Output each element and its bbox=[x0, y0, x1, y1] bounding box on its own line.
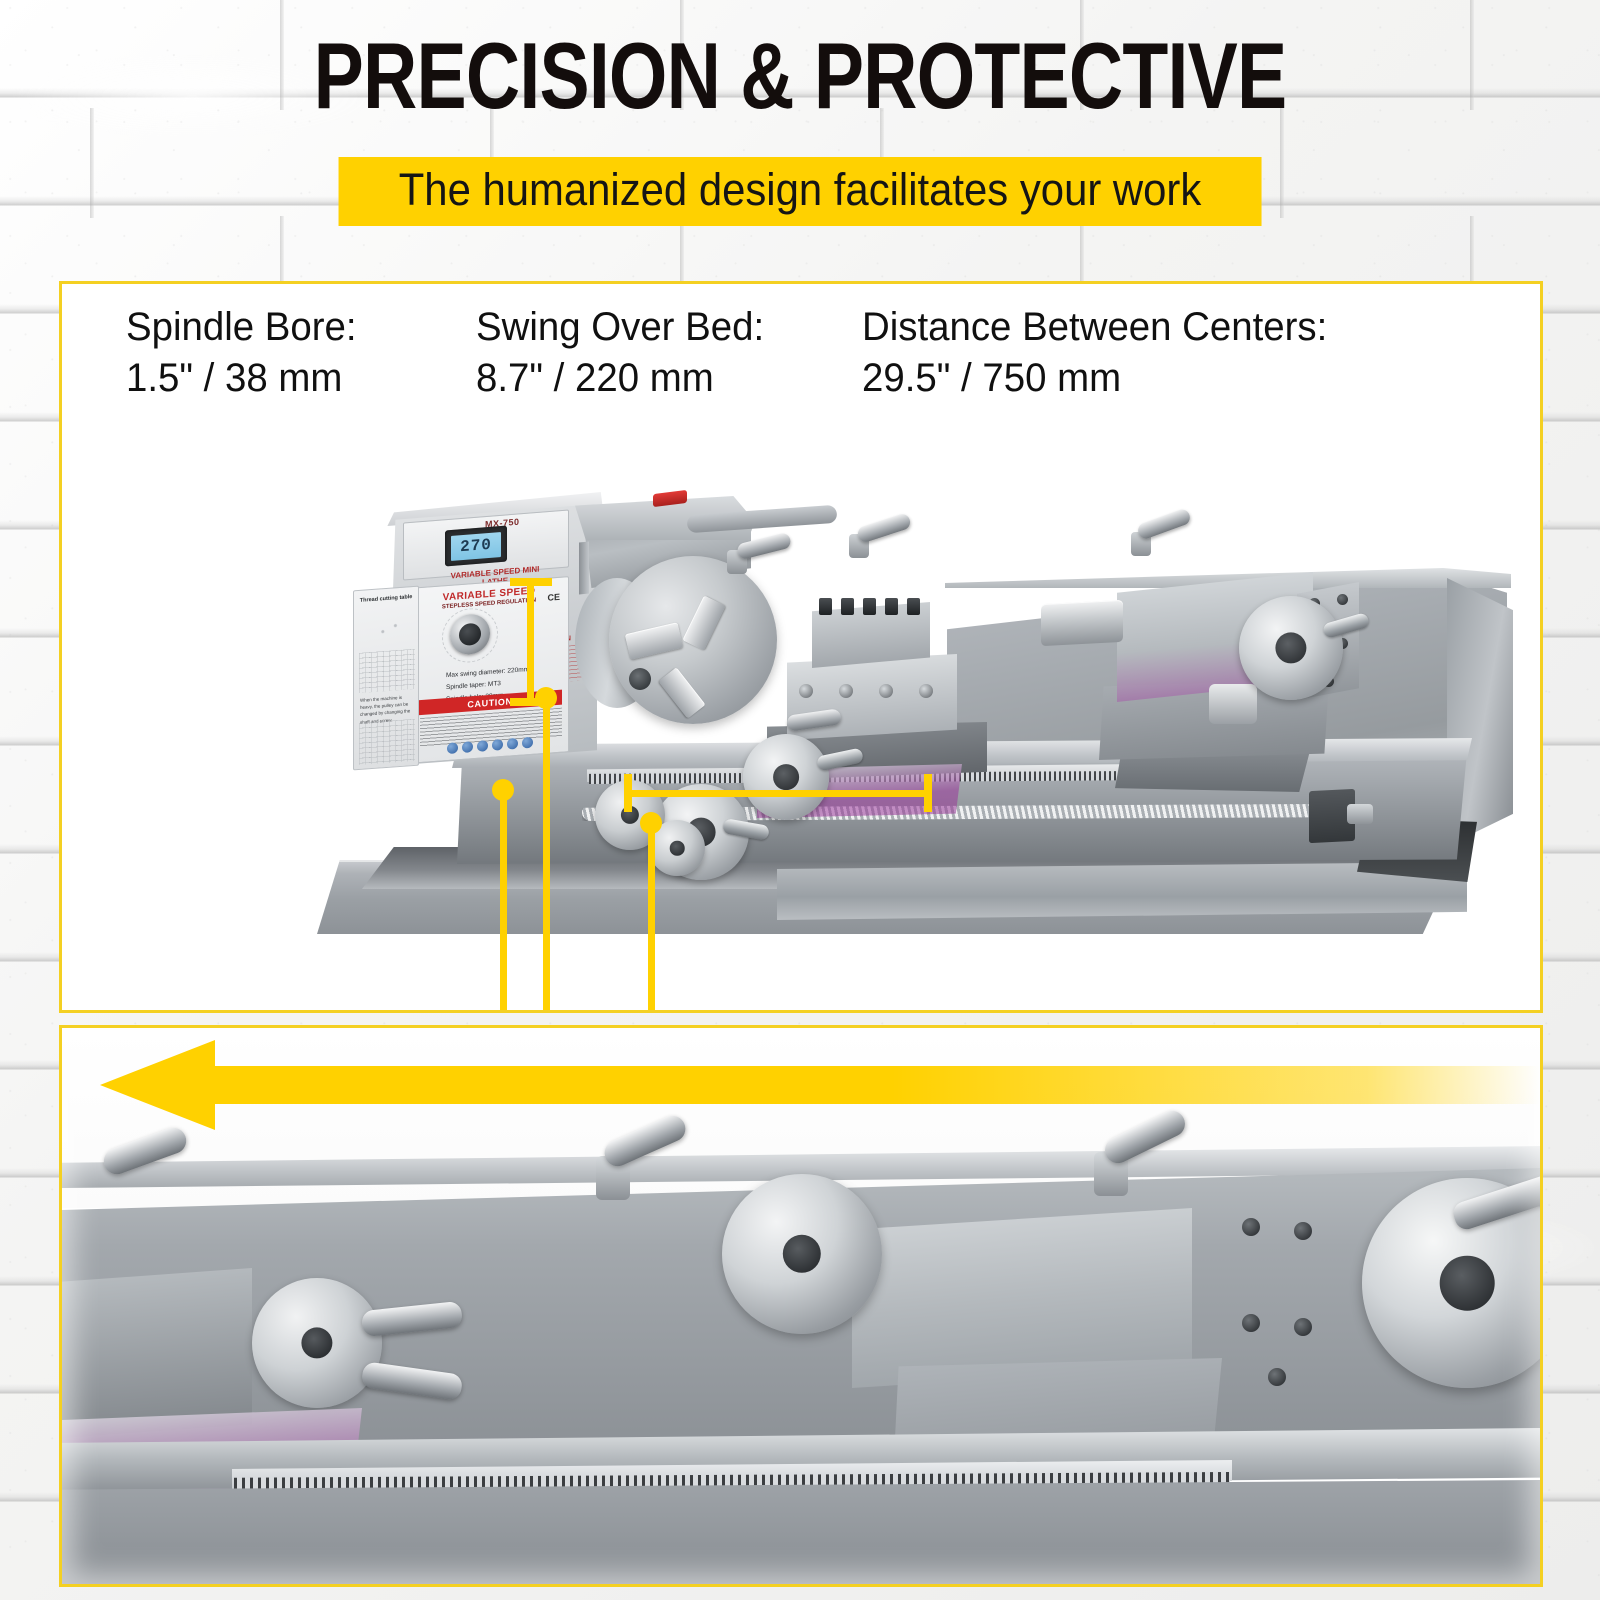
direction-arrow-left bbox=[100, 1040, 1540, 1130]
distance-between-centers-cap bbox=[924, 774, 932, 812]
thread-cutting-table-plate: Thread cutting table When the machine is… bbox=[353, 586, 419, 771]
leadscrew-nut bbox=[1347, 804, 1373, 824]
bolt bbox=[1268, 1368, 1286, 1386]
thread-table-diagram bbox=[366, 609, 408, 646]
bolt bbox=[879, 684, 893, 698]
bolt bbox=[819, 598, 832, 615]
safety-icon bbox=[507, 738, 518, 750]
bolt bbox=[863, 598, 876, 615]
safety-icon bbox=[492, 739, 503, 751]
cross-slide-handwheel[interactable] bbox=[743, 734, 829, 820]
lathe-product-photo: CAUTION MX-750 270 VARIABLE SPEED MINI L… bbox=[257, 392, 1543, 1012]
closeup-graduated-dial[interactable] bbox=[252, 1278, 382, 1408]
tailstock-quill bbox=[1041, 600, 1123, 646]
safety-icon bbox=[447, 742, 458, 754]
caution-label: CAUTION bbox=[467, 696, 512, 709]
bolt bbox=[919, 684, 933, 698]
bolt bbox=[799, 684, 813, 698]
subtitle-text: The humanized design facilitates your wo… bbox=[399, 165, 1202, 215]
lcd-value: 270 bbox=[460, 536, 492, 557]
safety-icon bbox=[477, 740, 488, 752]
clamp-lever[interactable] bbox=[856, 512, 912, 544]
subtitle-banner: The humanized design facilitates your wo… bbox=[339, 157, 1262, 226]
bolt bbox=[839, 684, 853, 698]
spindle-bore-dimension-cap bbox=[510, 578, 552, 586]
speed-display: 270 bbox=[445, 526, 507, 567]
thread-table-title: Thread cutting table bbox=[354, 594, 418, 605]
chuck-key-hole bbox=[629, 668, 651, 690]
bolt bbox=[1294, 1318, 1312, 1336]
tailstock-lock-knob[interactable] bbox=[1209, 684, 1257, 724]
spec-label: Distance Between Centers: bbox=[862, 302, 1327, 353]
spec-swing-over-bed: Swing Over Bed: 8.7" / 220 mm bbox=[476, 302, 764, 404]
spindle-bore-dimension-line bbox=[527, 582, 534, 704]
thread-table-grid bbox=[359, 649, 415, 693]
tailstock-handwheel[interactable] bbox=[1239, 596, 1343, 700]
spec-distance-between-centers: Distance Between Centers: 29.5" / 750 mm bbox=[862, 302, 1327, 404]
mortar-joint bbox=[1470, 0, 1474, 110]
mortar-joint bbox=[90, 108, 94, 218]
bolt bbox=[841, 598, 854, 615]
chuck-leader-line bbox=[648, 823, 655, 1013]
closeup-handwheel-mid[interactable] bbox=[722, 1174, 882, 1334]
ce-mark: CE bbox=[547, 592, 560, 603]
closeup-bed-lower bbox=[62, 1480, 1540, 1584]
tool-post-bolts bbox=[819, 598, 929, 616]
safety-icon bbox=[522, 737, 533, 749]
closeup-tool-block bbox=[62, 1268, 252, 1438]
thread-table-grid bbox=[359, 719, 415, 765]
spec-label: Swing Over Bed: bbox=[476, 302, 764, 353]
feature-panel-top: Spindle Bore: 1.5" / 38 mm Swing Over Be… bbox=[59, 281, 1543, 1013]
cover-hinge bbox=[579, 541, 589, 594]
page-title: PRECISION & PROTECTIVE bbox=[160, 26, 1440, 126]
power-off-cover-leader-line bbox=[500, 790, 507, 1013]
bolt bbox=[1242, 1218, 1260, 1236]
bolt bbox=[1242, 1314, 1260, 1332]
lcd-screen: 270 bbox=[451, 532, 501, 561]
distance-between-centers-line bbox=[628, 790, 932, 797]
distance-between-centers-cap bbox=[624, 774, 632, 812]
bolt bbox=[907, 598, 920, 615]
safety-icon bbox=[462, 741, 473, 753]
cross-slide-bolts bbox=[799, 684, 945, 698]
bolt bbox=[885, 598, 898, 615]
bolt bbox=[1337, 594, 1348, 605]
swing-over-bed-leader-line bbox=[543, 698, 550, 1013]
spec-label: Spindle Bore: bbox=[126, 302, 357, 353]
bolt bbox=[1294, 1222, 1312, 1240]
clamp-lever[interactable] bbox=[1136, 507, 1192, 541]
spec-spindle-bore: Spindle Bore: 1.5" / 38 mm bbox=[126, 302, 357, 404]
closeup-tailstock-bolts bbox=[1242, 1218, 1362, 1398]
